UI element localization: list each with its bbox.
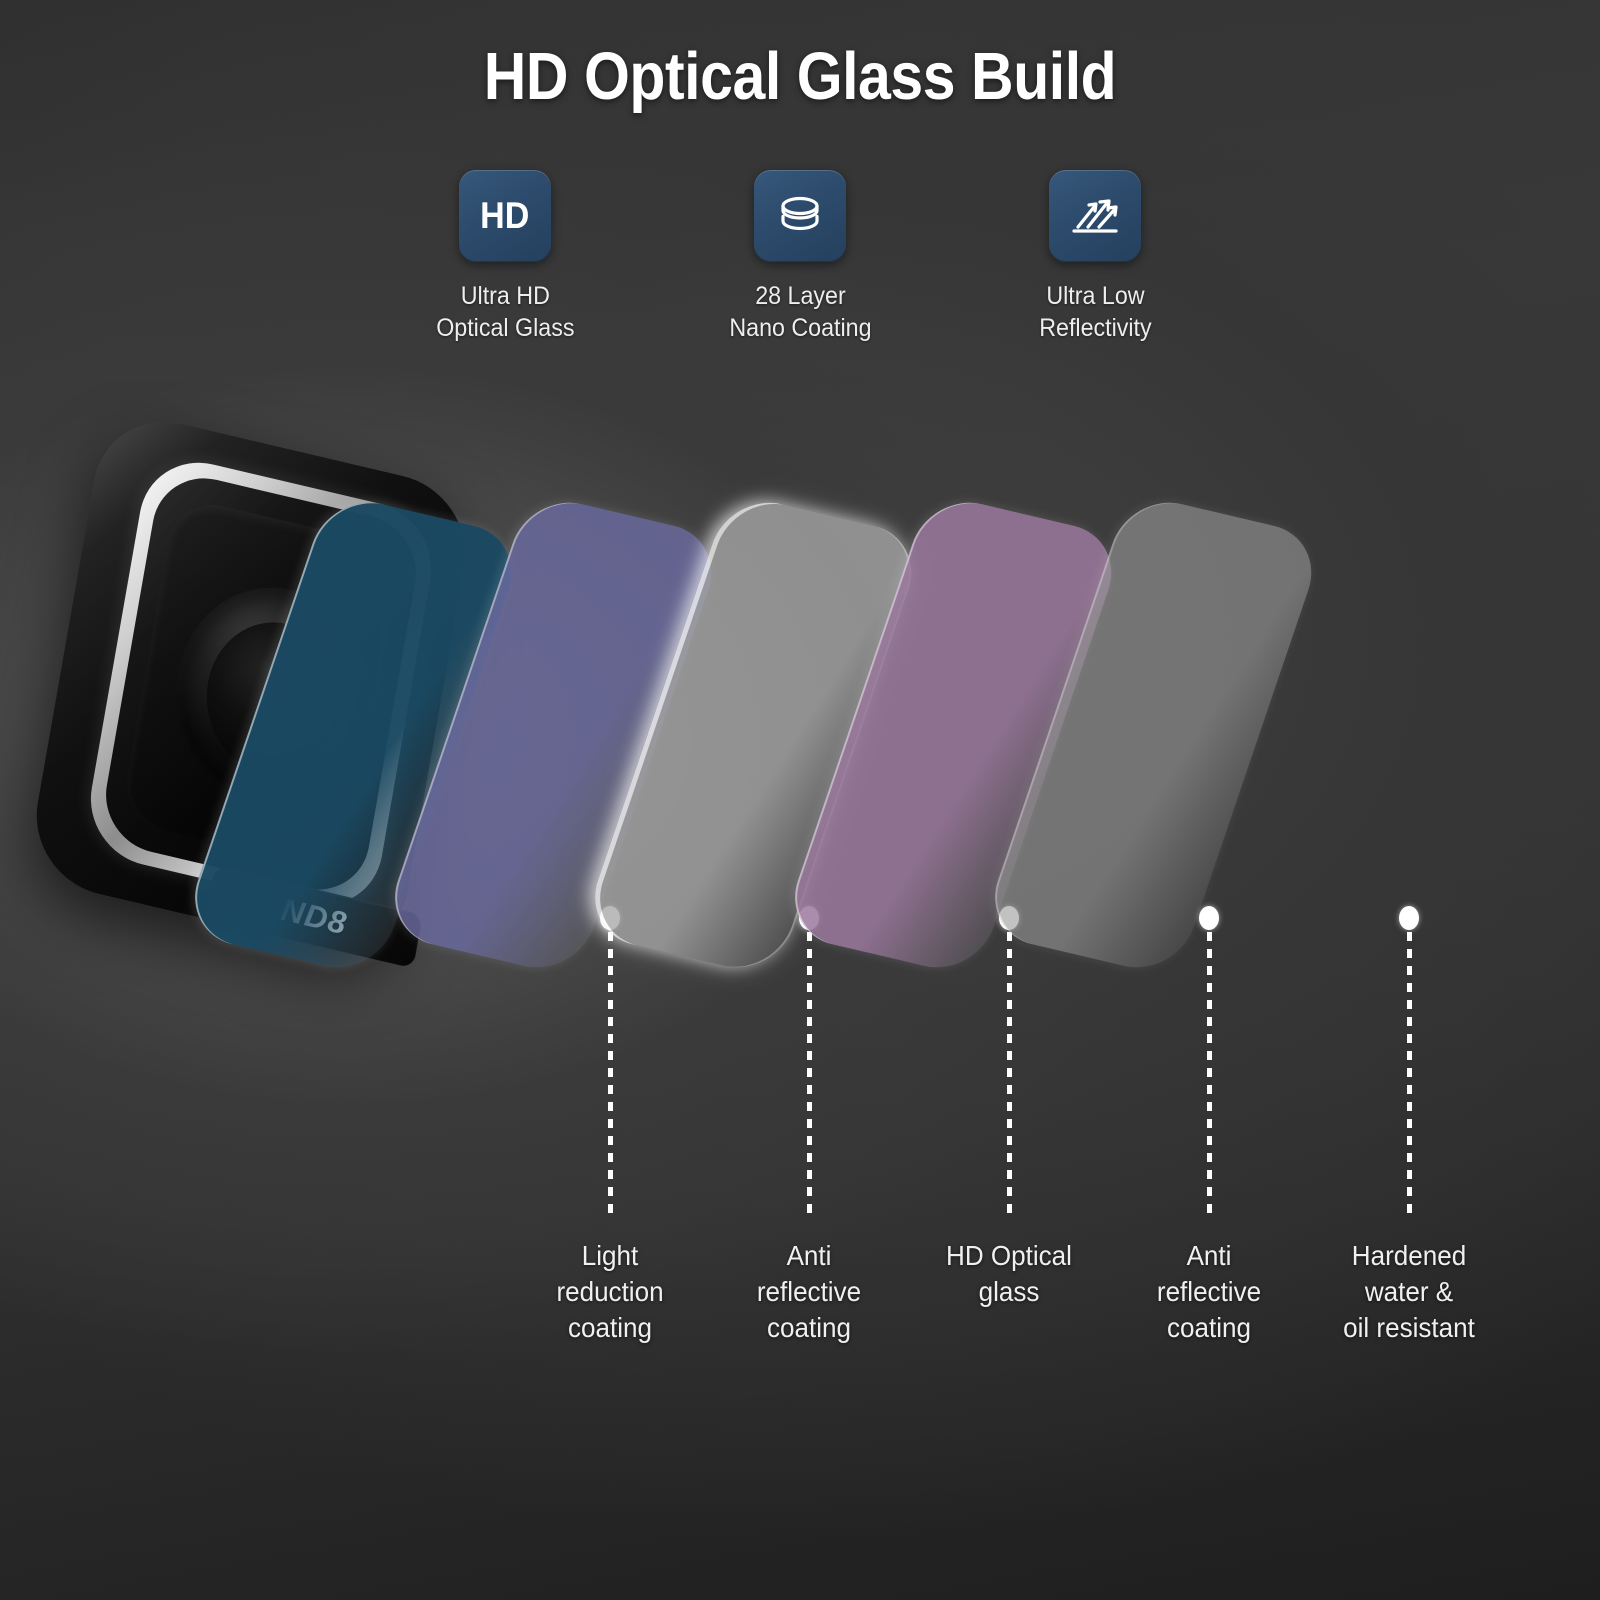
callout-label-light-reduction-coating: Light reduction coating	[503, 1238, 717, 1346]
feature-28-layer-nano-coating: 28 Layer Nano Coating	[695, 170, 905, 344]
callout-label-anti-reflective-coating-back: Anti reflective coating	[1102, 1238, 1316, 1346]
callout-leader-line	[608, 932, 613, 1220]
callout-leader-line	[1007, 932, 1012, 1220]
callout-leader-line	[1407, 932, 1412, 1220]
callout-label-hd-optical-glass: HD Optical glass	[902, 1238, 1116, 1310]
hd-icon: HD	[459, 170, 551, 262]
callout-marker-dot	[1399, 906, 1419, 930]
feature-ultra-hd-optical-glass: HD Ultra HD Optical Glass	[400, 170, 610, 344]
reflectivity-icon	[1049, 170, 1141, 262]
callout-leader-line	[1207, 932, 1212, 1220]
feature-ultra-low-reflectivity: Ultra Low Reflectivity	[990, 170, 1200, 344]
page-title: HD Optical Glass Build	[96, 38, 1504, 115]
layers-icon	[754, 170, 846, 262]
infographic-canvas: HD Optical Glass Build HD Ultra HD Optic…	[0, 0, 1600, 1600]
callout-marker-dot	[1199, 906, 1219, 930]
feature-label-28-layer: 28 Layer Nano Coating	[729, 281, 871, 344]
callout-label-anti-reflective-coating-front: Anti reflective coating	[702, 1238, 916, 1346]
feature-label-ultra-hd: Ultra HD Optical Glass	[436, 281, 574, 344]
callout-leader-line	[807, 932, 812, 1220]
hd-icon-label: HD	[480, 195, 529, 237]
feature-badge-row: HD Ultra HD Optical Glass 28 Layer Nano …	[400, 170, 1200, 344]
feature-label-ultra-low-reflectivity: Ultra Low Reflectivity	[1039, 281, 1151, 344]
callout-label-hardened-water-oil-resistant: Hardened water & oil resistant	[1302, 1238, 1516, 1346]
